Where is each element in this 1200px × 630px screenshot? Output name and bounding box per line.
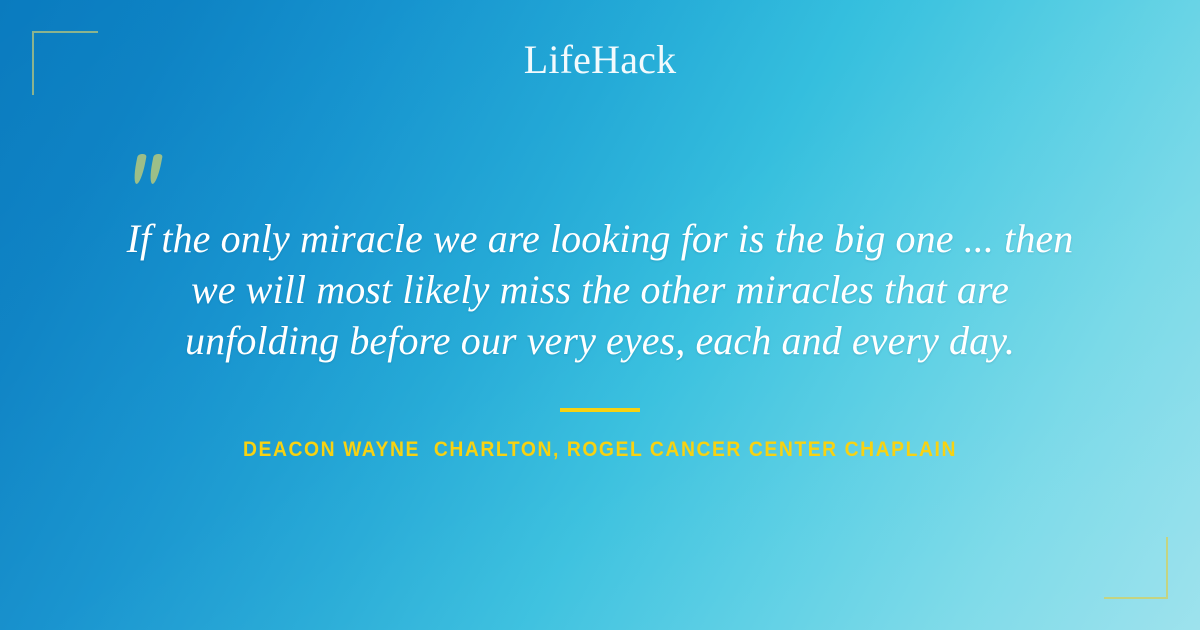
lifehack-logo: LifeHack — [0, 38, 1200, 82]
quote-text: If the only miracle we are looking for i… — [100, 213, 1100, 366]
quote-card: LifeHack If the only miracle we are look… — [0, 0, 1200, 630]
quote-line: If the only miracle we are looking for i… — [100, 213, 1100, 264]
quote-mark-stroke-right — [148, 154, 163, 184]
divider-rule — [560, 408, 640, 412]
quote-line: we will most likely miss the other mirac… — [100, 264, 1100, 315]
quote-line: unfolding before our very eyes, each and… — [100, 315, 1100, 366]
quote-mark-icon — [131, 148, 175, 192]
quote-attribution: DEACON WAYNE CHARLTON, ROGEL CANCER CENT… — [48, 438, 1152, 462]
corner-bracket-bottom-right-icon — [1104, 537, 1168, 599]
quote-mark-stroke-left — [132, 154, 147, 184]
